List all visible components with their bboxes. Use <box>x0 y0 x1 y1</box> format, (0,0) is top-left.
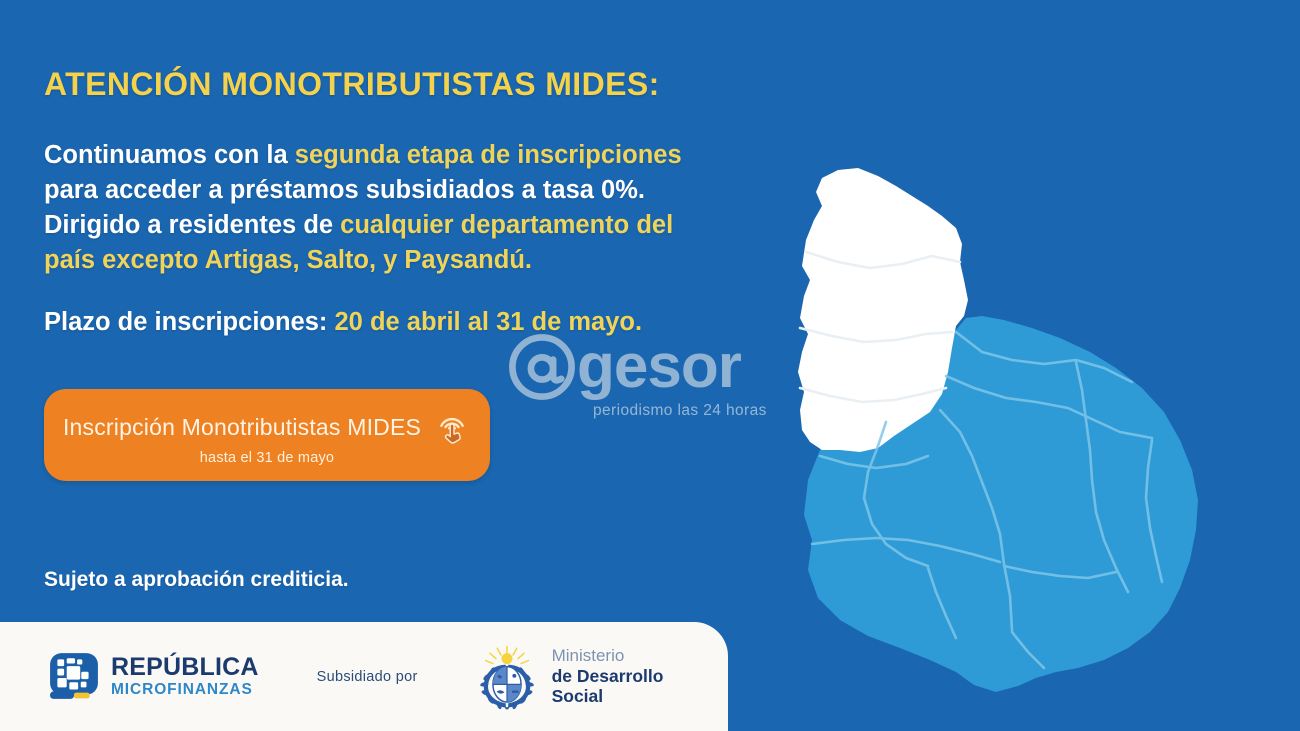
republica-microfinanzas-wordmark: REPÚBLICA MICROFINANZAS <box>111 655 259 698</box>
republica-microfinanzas-logo: REPÚBLICA MICROFINANZAS <box>48 651 259 703</box>
body-line-1-white: Continuamos con la <box>44 141 295 169</box>
watermark-brand: gesor <box>577 336 741 398</box>
watermark-tagline: periodismo las 24 horas <box>593 402 767 420</box>
deadline-label: Plazo de inscripciones: <box>44 308 335 336</box>
body-line-4-highlight: país excepto Artigas, Salto, y Paysandú. <box>44 246 532 274</box>
uruguay-departments-map <box>760 120 1260 700</box>
body-line-3-white: Dirigido a residentes de <box>44 211 340 239</box>
inscripcion-monotributistas-button[interactable]: Inscripción Monotributistas MIDES hasta … <box>44 389 490 481</box>
page-title: ATENCIÓN MONOTRIBUTISTAS MIDES: <box>44 66 660 103</box>
body-copy: Continuamos con la segunda etapa de insc… <box>44 138 804 278</box>
desarrollo-label: de Desarrollo <box>552 666 664 686</box>
social-label: Social <box>552 686 664 706</box>
body-line-1: Continuamos con la segunda etapa de insc… <box>44 138 804 173</box>
cta-row: Inscripción Monotributistas MIDES <box>63 408 471 446</box>
body-line-2-white: para acceder a préstamos subsidiados a t… <box>44 176 645 204</box>
registration-deadline: Plazo de inscripciones: 20 de abril al 3… <box>44 308 642 337</box>
mides-wordmark: Ministerio de Desarrollo Social <box>552 646 664 707</box>
footer-panel: REPÚBLICA MICROFINANZAS Subsidiado por <box>0 622 728 731</box>
body-line-3-highlight: cualquier departamento del <box>340 211 673 239</box>
promo-poster: gesor periodismo las 24 horas ATENCIÓN M… <box>0 0 1300 731</box>
at-sign-icon <box>505 330 579 404</box>
cta-label: Inscripción Monotributistas MIDES <box>63 414 421 441</box>
microfinanzas-label: MICROFINANZAS <box>111 682 259 698</box>
subsidiado-por-label: Subsidiado por <box>317 669 418 685</box>
republica-microfinanzas-logo-icon <box>48 651 100 703</box>
body-line-2: para acceder a préstamos subsidiados a t… <box>44 173 804 208</box>
republica-label: REPÚBLICA <box>111 655 259 680</box>
deadline-value: 20 de abril al 31 de mayo. <box>335 308 643 336</box>
body-line-1-highlight: segunda etapa de inscripciones <box>295 141 682 169</box>
uruguay-coat-of-arms-icon <box>476 644 538 710</box>
mides-logo: Ministerio de Desarrollo Social <box>476 644 664 710</box>
body-line-3: Dirigido a residentes de cualquier depar… <box>44 208 804 243</box>
body-line-4: país excepto Artigas, Salto, y Paysandú. <box>44 243 804 278</box>
cta-sublabel: hasta el 31 de mayo <box>200 450 334 466</box>
tap-click-icon <box>433 408 471 446</box>
disclaimer-text: Sujeto a aprobación crediticia. <box>44 568 349 592</box>
ministerio-label: Ministerio <box>552 646 664 666</box>
